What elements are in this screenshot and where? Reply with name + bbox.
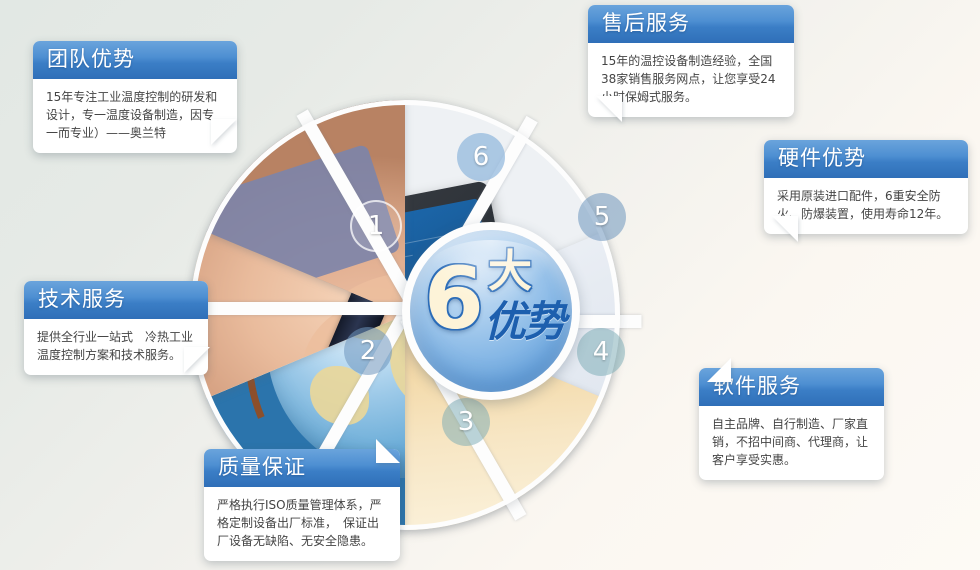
callout-software-tail <box>707 358 731 382</box>
center-badge-unit: 大 <box>488 250 532 294</box>
segment-number-6-label: 6 <box>473 142 490 172</box>
callout-hardware-tail <box>772 216 798 242</box>
callout-aftersales-title: 售后服务 <box>588 5 794 43</box>
callout-quality[interactable]: 质量保证 严格执行ISO质量管理体系，严格定制设备出厂标准， 保证出厂设备无缺陷… <box>204 449 400 561</box>
callout-technical-body: 提供全行业一站式 冷热工业温度控制方案和技术服务。 <box>24 319 208 375</box>
callout-technical-title: 技术服务 <box>24 281 208 319</box>
callout-technical-tail <box>184 347 210 373</box>
segment-number-2-label: 2 <box>360 336 377 366</box>
segment-number-3[interactable]: 3 <box>442 398 490 446</box>
callout-team-tail <box>211 119 237 145</box>
callout-team-body: 15年专注工业温度控制的研发和设计，专一温度设备制造，因专一而专业）——奥兰特 <box>33 79 237 153</box>
segment-number-1[interactable]: 1 <box>350 200 402 252</box>
callout-software-body: 自主品牌、自行制造、厂家直销，不招中间商、代理商，让客户享受实惠。 <box>699 406 884 480</box>
center-badge: 6 大 优势 <box>402 222 580 400</box>
callout-quality-body: 严格执行ISO质量管理体系，严格定制设备出厂标准， 保证出厂设备无缺陷、无安全隐… <box>204 487 400 561</box>
segment-number-5-label: 5 <box>594 202 611 232</box>
callout-technical[interactable]: 技术服务 提供全行业一站式 冷热工业温度控制方案和技术服务。 <box>24 281 208 375</box>
segment-number-2[interactable]: 2 <box>344 327 392 375</box>
segment-number-3-label: 3 <box>458 407 475 437</box>
callout-aftersales-tail <box>596 96 622 122</box>
center-badge-word: 优势 <box>484 300 564 344</box>
segment-number-4-label: 4 <box>593 337 610 367</box>
callout-team[interactable]: 团队优势 15年专注工业温度控制的研发和设计，专一温度设备制造，因专一而专业）—… <box>33 41 237 153</box>
wheel-divider <box>182 302 412 315</box>
callout-team-title: 团队优势 <box>33 41 237 79</box>
callout-software[interactable]: 软件服务 自主品牌、自行制造、厂家直销，不招中间商、代理商，让客户享受实惠。 <box>699 368 884 480</box>
callout-hardware-title: 硬件优势 <box>764 140 968 178</box>
segment-number-6[interactable]: 6 <box>457 133 505 181</box>
callout-quality-tail <box>376 439 400 463</box>
segment-number-5[interactable]: 5 <box>578 193 626 241</box>
segment-number-1-label: 1 <box>368 211 385 241</box>
segment-number-4[interactable]: 4 <box>577 328 625 376</box>
callout-quality-title: 质量保证 <box>204 449 400 487</box>
center-badge-number: 6 <box>424 256 484 342</box>
